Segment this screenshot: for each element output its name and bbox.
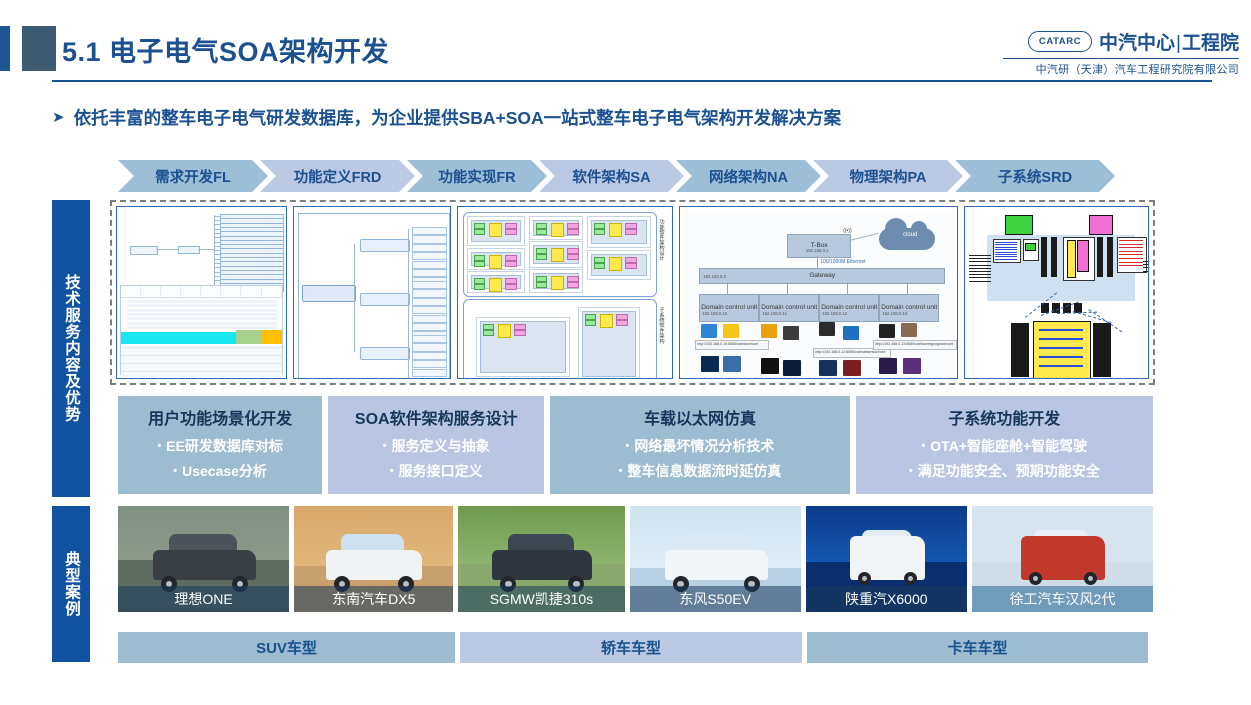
sheet-cell	[127, 304, 277, 307]
harness-wire-left	[969, 281, 991, 282]
device-thumbnail-low-3	[761, 358, 779, 374]
feature-card-1: 用户功能场景化开发•EE研发数据库对标•Usecase分析	[118, 396, 322, 494]
mindmap-spine	[214, 215, 215, 289]
arch-block	[551, 248, 564, 262]
harness-wire-right	[1143, 264, 1149, 265]
arch-block	[498, 324, 511, 338]
harness-wire-right	[1143, 261, 1149, 262]
case-card-label: SGMW凯捷310s	[458, 586, 624, 612]
feature-card-item: •整车信息数据流时延仿真	[619, 461, 782, 481]
harness-wire-left	[969, 255, 991, 256]
case-photo-wheel	[904, 572, 917, 585]
case-card-label: 陕重汽X6000	[806, 586, 967, 612]
harness-wire-left	[969, 268, 991, 269]
chevron-right-icon: ➤	[52, 110, 65, 125]
case-card-2[interactable]: 东南汽车DX5	[294, 506, 453, 612]
harness-wire-blue	[995, 249, 1017, 250]
harness-module-wire	[1039, 365, 1083, 367]
process-step-label: 网络架构NA	[709, 166, 788, 187]
arch-block	[594, 229, 605, 235]
harness-wire-blue	[995, 244, 1017, 245]
sheet-row	[121, 374, 282, 377]
mindmap-node	[178, 246, 200, 254]
feature-row: 用户功能场景化开发•EE研发数据库对标•Usecase分析SOA软件架构服务设计…	[118, 396, 1153, 494]
mindmap-node	[412, 269, 447, 277]
feature-card-item-label: 整车信息数据流时延仿真	[627, 461, 781, 481]
case-photo-wheel	[1084, 572, 1097, 585]
device-thumbnail-6	[843, 326, 859, 340]
feature-card-item-label: 服务接口定义	[399, 461, 483, 481]
feature-card-item: •Usecase分析	[173, 461, 267, 481]
harness-wire-blue	[995, 252, 1017, 253]
feature-card-item-label: 网络最坏情况分析技术	[634, 436, 774, 456]
harness-pink-strip	[1077, 240, 1089, 272]
case-photo-wheel	[1029, 572, 1042, 585]
arch-block	[567, 229, 579, 235]
diagram-strip: 功能软件架构设计子系统软件架构 cloudT-Box192.168.0.1((•…	[110, 200, 1155, 385]
arch-block	[567, 282, 579, 288]
arch-block	[483, 330, 494, 336]
mindmap-node	[412, 369, 447, 377]
feature-card-item-label: Usecase分析	[182, 461, 267, 481]
net-ip-dcu-1: 192.168.0.10	[702, 311, 742, 317]
sheet-header	[121, 286, 282, 298]
net-link-gw-dcu	[907, 282, 908, 294]
sheet-cell	[127, 313, 277, 316]
net-link-gw-dcu	[787, 282, 788, 294]
lead-bullet-text: 依托丰富的整车电子电气研发数据库，为企业提供SBA+SOA一站式整车电子电气架构…	[74, 105, 842, 130]
mindmap-connector	[408, 337, 409, 379]
feature-card-title: 用户功能场景化开发	[148, 405, 292, 429]
harness-wire-red	[1119, 247, 1143, 248]
arch-block	[505, 229, 517, 235]
feature-card-item-label: 服务定义与抽象	[392, 436, 490, 456]
case-card-label: 东风S50EV	[630, 586, 801, 612]
network-canvas: cloudT-Box192.168.0.1((•))100/1000M Ethe…	[683, 210, 953, 375]
mindmap-node	[412, 281, 447, 289]
harness-wire-red	[1119, 244, 1143, 245]
mindmap-node	[360, 239, 410, 252]
bullet-dot-icon: •	[626, 441, 630, 452]
device-thumbnail-low-2	[723, 356, 741, 372]
process-step-label: 功能实现FR	[438, 166, 515, 187]
device-thumbnail-7	[879, 324, 895, 338]
harness-wire-right	[1143, 267, 1149, 268]
arch-block	[505, 284, 517, 290]
category-bar-label: 卡车车型	[947, 637, 1007, 658]
arch-block	[489, 278, 502, 292]
arch-block	[514, 330, 526, 336]
feature-card-item: •服务接口定义	[390, 461, 483, 481]
mindmap-node	[412, 352, 447, 360]
sheet-row	[121, 366, 282, 369]
sheet-row	[121, 346, 282, 349]
ecu-green-module	[1005, 215, 1033, 235]
case-card-5[interactable]: 陕重汽X6000	[806, 506, 967, 612]
device-thumbnail-3	[761, 324, 777, 338]
process-step-4[interactable]: 软件架构SA	[539, 160, 684, 192]
case-card-label: 徐工汽车汉风2代	[972, 586, 1153, 612]
process-step-label: 物理架构PA	[849, 166, 926, 187]
harness-yellow-strip	[1067, 240, 1076, 278]
feature-card-item: •EE研发数据库对标	[157, 436, 283, 456]
arch-block	[474, 261, 485, 267]
mindmap-node	[360, 347, 410, 360]
net-ip-dcu-2: 192.168.0.11	[762, 311, 802, 317]
harness-wire-left	[969, 265, 991, 266]
net-link-gw-dcu	[727, 282, 728, 294]
process-step-label: 需求开发FL	[155, 166, 231, 187]
case-card-label: 东南汽车DX5	[294, 586, 453, 612]
mindmap-node	[412, 335, 447, 343]
feature-card-4: 子系统功能开发•OTA+智能座舱+智能驾驶•满足功能安全、预期功能安全	[856, 396, 1153, 494]
process-step-1[interactable]: 需求开发FL	[118, 160, 268, 192]
harness-connector	[1097, 237, 1103, 277]
harness-wire-blue	[995, 254, 1017, 255]
feature-card-item: •OTA+智能座舱+智能驾驶	[921, 436, 1087, 456]
feature-card-item: •服务定义与抽象	[383, 436, 490, 456]
mindmap-node	[156, 249, 178, 250]
arch-vertical-label: 功能软件架构设计	[657, 219, 665, 289]
net-link-tbox-gw	[817, 256, 818, 268]
feature-card-item-label: OTA+智能座舱+智能驾驶	[930, 436, 1087, 456]
harness-wire-left	[969, 271, 991, 272]
process-step-label: 子系统SRD	[998, 166, 1072, 187]
sheet-cell	[127, 300, 277, 303]
process-step-label: 软件架构SA	[572, 166, 650, 187]
harness-connector	[1041, 237, 1047, 277]
harness-wire-left	[969, 277, 991, 278]
process-step-2[interactable]: 功能定义FRD	[260, 160, 415, 192]
title-divider	[52, 80, 1212, 82]
diagram-panel-service-mindmap	[293, 206, 452, 379]
catarc-mark-icon: CATARC	[1028, 31, 1092, 52]
category-bar-3: 卡车车型	[807, 632, 1148, 663]
arch-block	[536, 229, 547, 235]
harness-pin-left	[1011, 323, 1029, 377]
category-bar-1: SUV车型	[118, 632, 455, 663]
arch-block	[474, 229, 485, 235]
case-photo-wheel	[858, 572, 871, 585]
harness-wire-left	[969, 258, 991, 259]
mindmap-node	[412, 244, 447, 252]
mindmap-node	[130, 246, 158, 255]
arch-block	[609, 223, 622, 237]
page-title: 5.1 电子电气SOA架构开发	[62, 30, 389, 69]
feature-card-3: 车载以太网仿真•网络最坏情况分析技术•整车信息数据流时延仿真	[550, 396, 849, 494]
harness-connector	[1107, 237, 1113, 277]
process-step-3[interactable]: 功能实现FR	[407, 160, 547, 192]
url-tag-3: http://192.168.0.13:8080/car/faceregcogn…	[873, 340, 957, 350]
harness-wire-blue	[995, 242, 1017, 243]
net-node-dcu-1: Domain control unit	[699, 294, 759, 322]
arch-block	[536, 254, 547, 260]
case-card-1[interactable]: 理想ONE	[118, 506, 289, 612]
feature-card-item: •满足功能安全、预期功能安全	[909, 461, 1100, 481]
harness-wire-right	[1143, 271, 1149, 272]
feature-card-title: 子系统功能开发	[948, 405, 1060, 429]
url-tag-1: http://192.168.0.10:8080/car/door/conf	[695, 340, 769, 350]
mindmap-node	[360, 293, 410, 306]
logo-subtitle: 中汽研（天津）汽车工程研究院有限公司	[1003, 58, 1239, 77]
lead-bullet: ➤ 依托丰富的整车电子电气研发数据库，为企业提供SBA+SOA一站式整车电子电气…	[52, 105, 841, 130]
arch-block	[567, 254, 579, 260]
arch-block	[594, 263, 605, 269]
mindmap-node	[198, 249, 214, 250]
mindmap-node	[302, 285, 356, 302]
process-step-label: 功能定义FRD	[294, 166, 382, 187]
net-node-dcu-2: Domain control unit	[759, 294, 819, 322]
category-bar-label: SUV车型	[256, 637, 317, 658]
mindmap-node	[412, 289, 447, 297]
diagram-panel-network-arch: cloudT-Box192.168.0.1((•))100/1000M Ethe…	[679, 206, 957, 379]
mindmap-node	[412, 235, 447, 243]
mindmap-node	[412, 227, 447, 235]
arch-block	[616, 320, 628, 326]
bullet-dot-icon: •	[619, 466, 623, 477]
arch-block	[551, 223, 564, 237]
mindmap-connector	[354, 292, 363, 352]
harness-wire-red	[1119, 258, 1143, 259]
diagram-panel-physical-arch	[964, 206, 1149, 379]
case-row: 理想ONE东南汽车DX5SGMW凯捷310s东风S50EV陕重汽X6000徐工汽…	[118, 506, 1153, 612]
harness-connector	[1051, 237, 1057, 277]
mindmap-node	[412, 360, 447, 368]
arch-block	[551, 276, 564, 290]
sheet-cell	[127, 322, 277, 325]
net-node-tbox: T-Box	[787, 234, 851, 258]
title-accent-block	[22, 26, 56, 71]
category-row: SUV车型轿车车型卡车车型	[118, 632, 1153, 663]
sheet-cell	[127, 326, 277, 329]
mindmap-node	[412, 323, 447, 331]
requirement-mindmap	[120, 210, 283, 290]
net-ip-gateway: 192.168.0.2	[703, 274, 743, 280]
mindmap-node	[412, 315, 447, 323]
feature-card-title: SOA软件架构服务设计	[355, 405, 518, 429]
ecu-pink-module	[1089, 215, 1113, 235]
case-card-3[interactable]: SGMW凯捷310s	[458, 506, 624, 612]
arch-block	[489, 223, 502, 237]
arch-block	[489, 255, 502, 269]
harness-module-wire	[1039, 347, 1083, 349]
feature-card-2: SOA软件架构服务设计•服务定义与抽象•服务接口定义	[328, 396, 544, 494]
feature-card-item: •网络最坏情况分析技术	[626, 436, 775, 456]
logo-name-left: 中汽中心	[1099, 33, 1175, 54]
sheet-cell	[127, 317, 277, 320]
net-node-dcu-3: Domain control unit	[819, 294, 879, 322]
harness-wire-red	[1119, 262, 1143, 263]
net-ip-dcu-3: 192.168.0.12	[822, 311, 862, 317]
bullet-dot-icon: •	[383, 441, 387, 452]
feature-card-title: 车载以太网仿真	[644, 405, 756, 429]
harness-wire-blue	[995, 247, 1017, 248]
device-thumbnail-1	[701, 324, 717, 338]
arch-block	[625, 229, 637, 235]
mindmap-connector	[408, 229, 409, 288]
device-thumbnail-4	[783, 326, 799, 340]
device-thumbnail-low-8	[903, 358, 921, 374]
device-thumbnail-8	[901, 323, 917, 337]
mindmap-connector	[354, 244, 363, 292]
harness-wire-red	[1119, 254, 1143, 255]
harness-pin-right	[1093, 323, 1111, 377]
device-thumbnail-2	[723, 324, 739, 338]
harness-wire-left	[969, 261, 991, 262]
arch-block	[609, 257, 622, 271]
arch-block	[600, 314, 613, 328]
company-logo: CATARC 中汽中心|工程院 中汽研（天津）汽车工程研究院有限公司	[1003, 28, 1239, 77]
sheet-amber-band	[262, 330, 282, 344]
arch-block	[536, 282, 547, 288]
arch-block	[505, 261, 517, 267]
ecu-green-small	[1025, 243, 1036, 251]
harness-module-wire	[1039, 338, 1083, 340]
harness-wire-blue	[995, 256, 1017, 257]
sidebar-tab-tech-service: 技术服务内容及优势	[52, 200, 90, 497]
sheet-cell	[127, 309, 277, 312]
category-bar-2: 轿车车型	[460, 632, 802, 663]
cloud-label: cloud	[893, 232, 927, 242]
arch-block	[585, 320, 596, 326]
sheet-row	[121, 378, 282, 379]
net-ip-tbox: 192.168.0.1	[795, 248, 839, 254]
harness-wire-red	[1119, 265, 1143, 266]
net-link-gw-dcu	[847, 282, 848, 294]
case-card-4[interactable]: 东风S50EV	[630, 506, 801, 612]
harness-module-wire	[1039, 356, 1083, 358]
device-thumbnail-low-6	[843, 360, 861, 376]
arch-vertical-label: 子系统软件架构	[657, 307, 665, 377]
title-accent-rail	[0, 26, 10, 71]
arch-block	[474, 284, 485, 290]
sheet-row	[121, 358, 282, 361]
case-card-label: 理想ONE	[118, 586, 289, 612]
category-bar-label: 轿车车型	[601, 637, 661, 658]
mindmap-node	[412, 298, 447, 306]
process-step-7[interactable]: 子系统SRD	[955, 160, 1115, 192]
requirement-spreadsheet	[120, 285, 283, 375]
diagram-panel-requirements	[116, 206, 287, 379]
diagram-panel-software-arch: 功能软件架构设计子系统软件架构	[457, 206, 673, 379]
logo-name: 中汽中心|工程院	[1099, 28, 1239, 55]
net-ip-dcu-4: 192.168.0.13	[882, 311, 922, 317]
bullet-dot-icon: •	[909, 466, 913, 477]
net-node-dcu-4: Domain control unit	[879, 294, 939, 322]
logo-separator: |	[1175, 33, 1182, 55]
device-thumbnail-low-1	[701, 356, 719, 372]
sidebar-tab-typical-case: 典型案例	[52, 506, 90, 662]
bullet-dot-icon: •	[921, 441, 925, 452]
sheet-row	[121, 354, 282, 357]
harness-module-wire	[1039, 329, 1083, 331]
feature-card-item-label: 满足功能安全、预期功能安全	[918, 461, 1100, 481]
harness-wire-red	[1119, 251, 1143, 252]
bullet-dot-icon: •	[173, 466, 177, 477]
mindmap-node	[412, 252, 447, 260]
mindmap-node	[412, 261, 447, 269]
net-link-label: 100/1000M Ethernet	[820, 259, 890, 266]
mindmap-node	[412, 343, 447, 351]
mindmap-node	[412, 306, 447, 314]
device-thumbnail-5	[819, 322, 835, 336]
case-card-6[interactable]: 徐工汽车汉风2代	[972, 506, 1153, 612]
process-chevron-row: 需求开发FL功能定义FRD功能实现FR软件架构SA网络架构NA物理架构PA子系统…	[118, 160, 1158, 192]
arch-block	[625, 263, 637, 269]
harness-wire-blue	[995, 259, 1017, 260]
sheet-row	[121, 370, 282, 373]
harness-wire-red	[1119, 240, 1143, 241]
bullet-dot-icon: •	[157, 441, 161, 452]
wifi-icon: ((•))	[843, 228, 857, 238]
bullet-dot-icon: •	[390, 466, 394, 477]
harness-wire-left	[969, 274, 991, 275]
process-step-5[interactable]: 网络架构NA	[676, 160, 821, 192]
logo-name-right: 工程院	[1182, 33, 1239, 54]
device-thumbnail-low-7	[879, 358, 897, 374]
feature-card-item-label: EE研发数据库对标	[166, 436, 283, 456]
sheet-row	[121, 350, 282, 353]
device-thumbnail-low-4	[783, 360, 801, 376]
device-thumbnail-low-5	[819, 360, 837, 376]
sheet-row	[121, 362, 282, 365]
process-step-6[interactable]: 物理架构PA	[813, 160, 963, 192]
